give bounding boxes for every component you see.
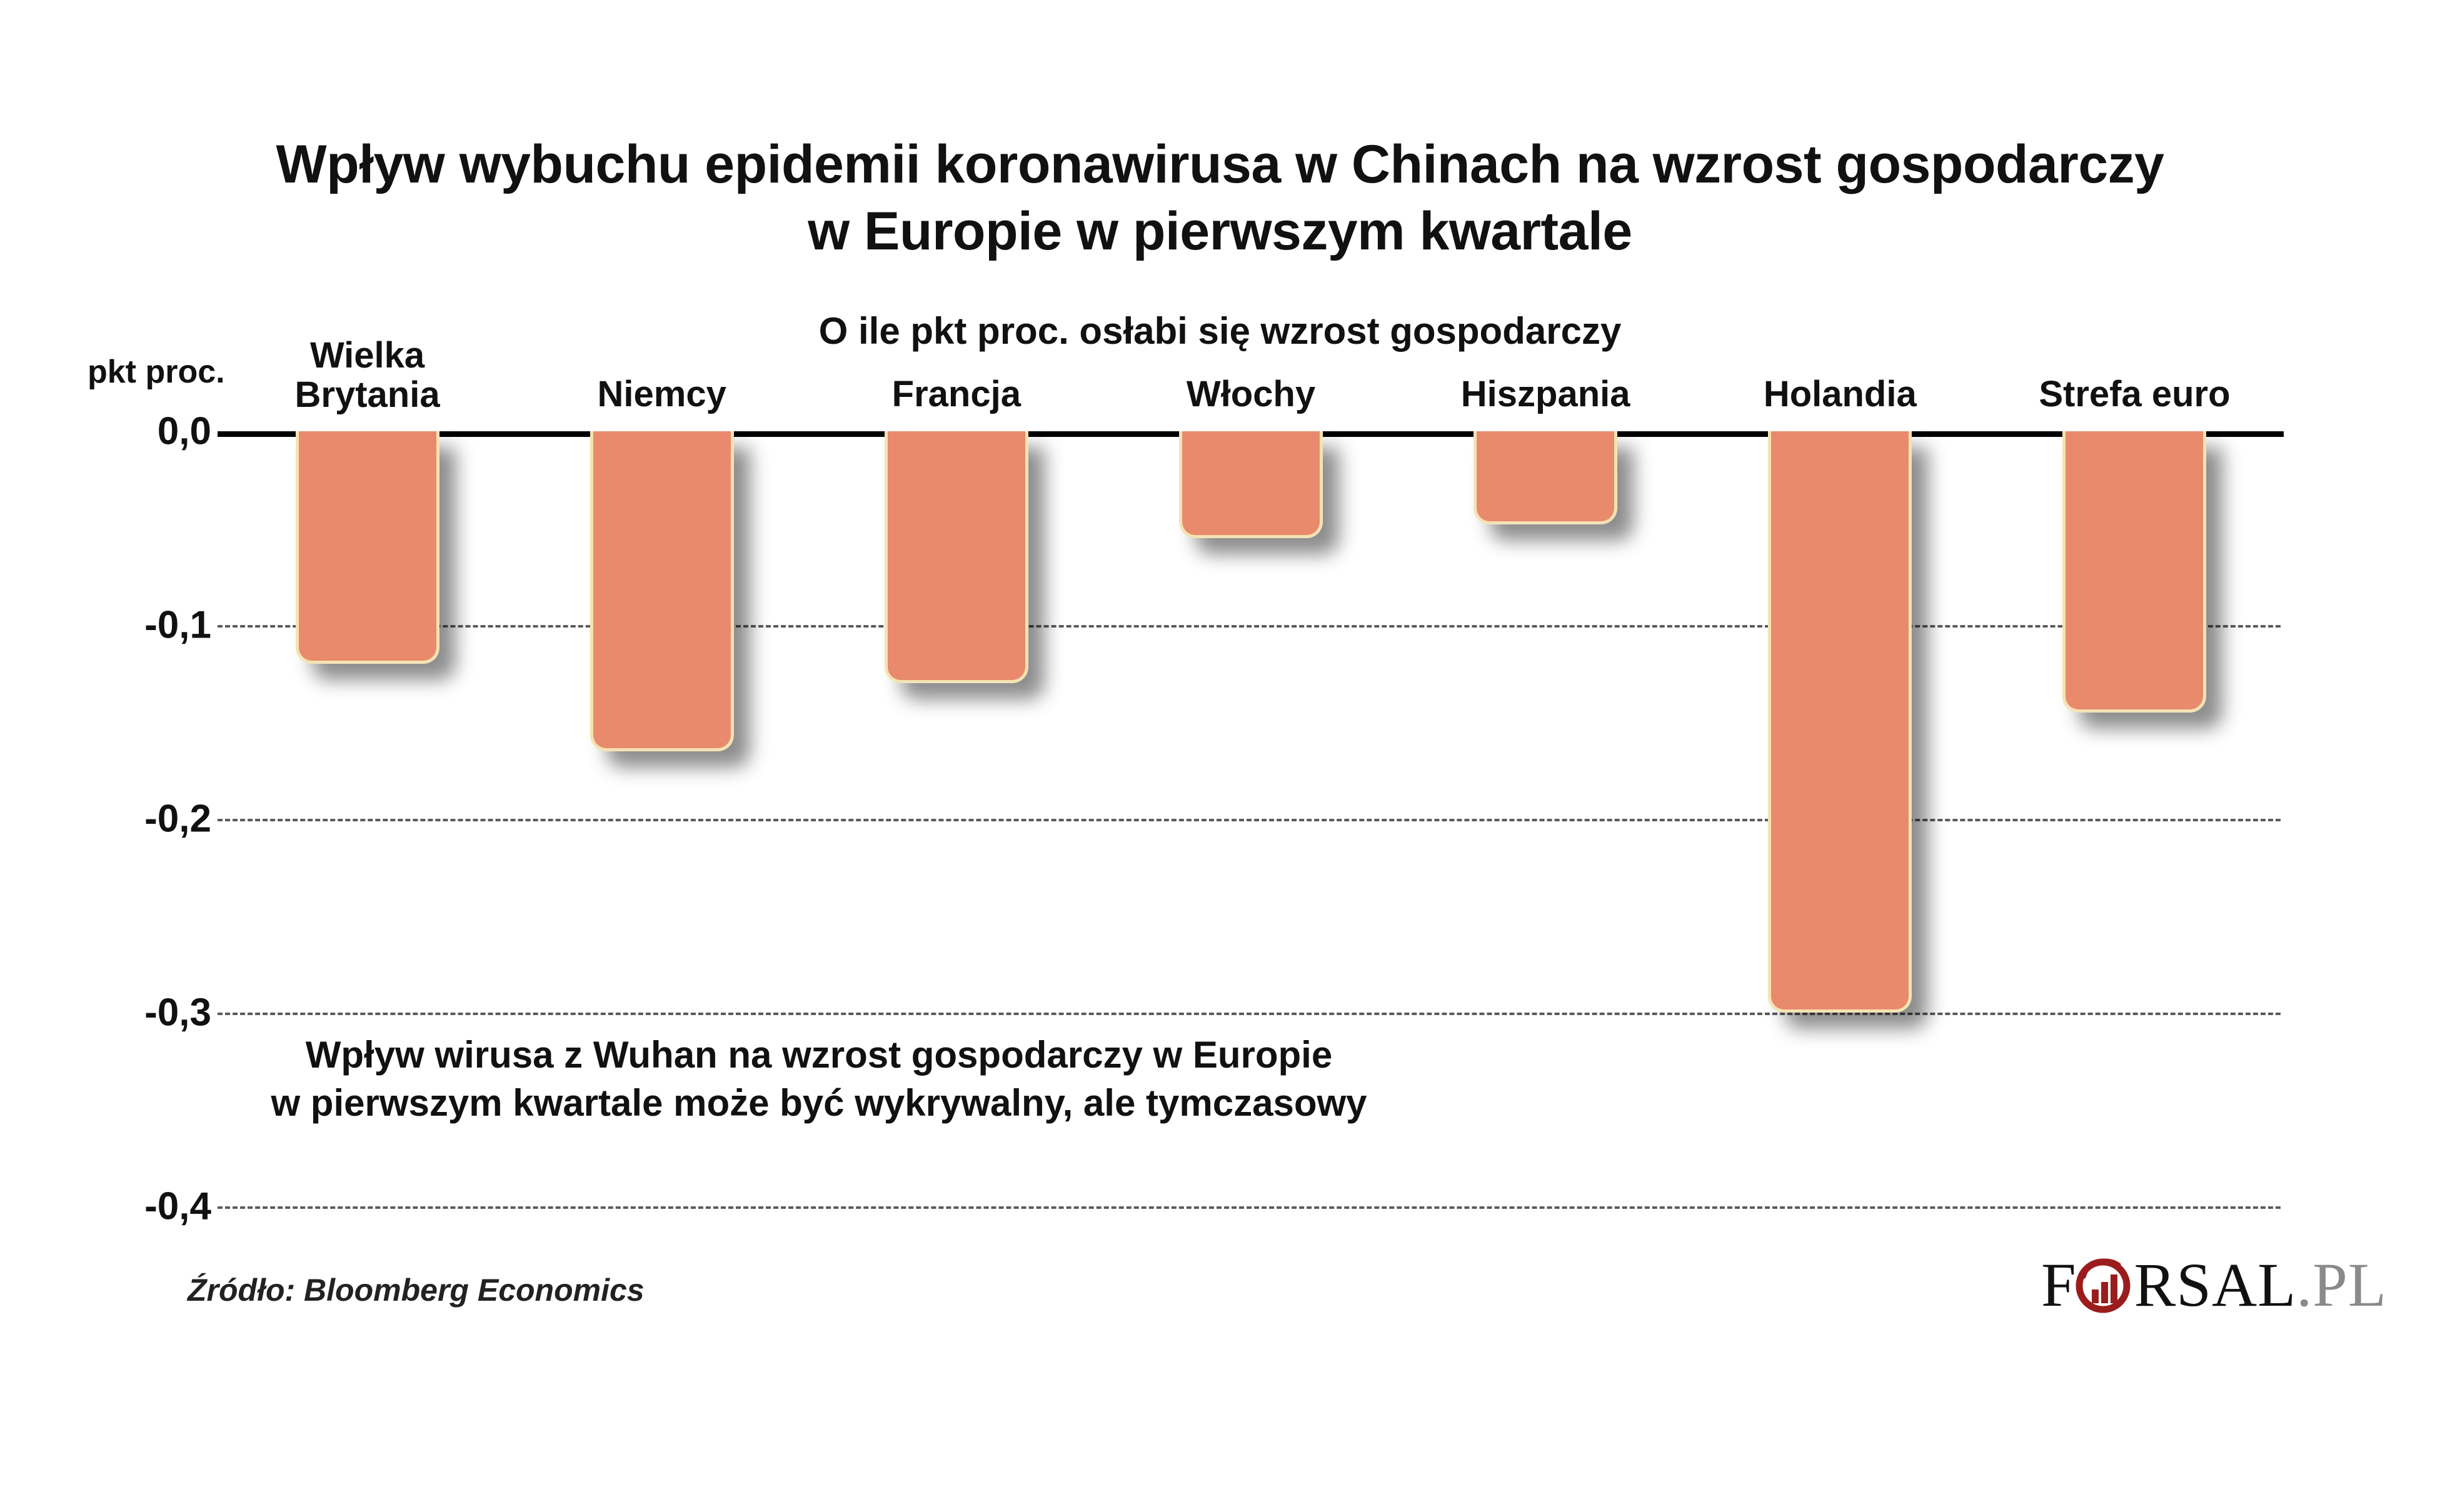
- y-tick-label-2: -0,2: [5, 797, 211, 841]
- y-tick-label-1: -0,1: [5, 603, 211, 648]
- bar-francja[interactable]: [885, 431, 1028, 683]
- y-axis-title: pkt proc.: [88, 353, 225, 391]
- category-label-holandia: Holandia: [1764, 375, 1917, 414]
- bar-holandia[interactable]: [1768, 431, 1912, 1013]
- category-label-niemcy: Niemcy: [598, 375, 726, 414]
- logo-letters-rsal: RSAL: [2134, 1249, 2297, 1321]
- bar-hiszpania[interactable]: [1474, 431, 1617, 524]
- logo-letter-f: F: [2041, 1249, 2077, 1321]
- chart-annotation: Wpływ wirusa z Wuhan na wzrost gospodarc…: [206, 1031, 1432, 1128]
- bar-niemcy[interactable]: [590, 431, 734, 751]
- category-label-strefa-euro: Strefa euro: [2039, 375, 2230, 414]
- y-tick-label-3: -0,3: [5, 991, 211, 1035]
- bar-wielka-brytania[interactable]: [296, 431, 439, 664]
- forsal-logo[interactable]: F RSAL .PL: [2041, 1250, 2387, 1319]
- logo-suffix-pl: .PL: [2296, 1249, 2387, 1321]
- bar-wlochy[interactable]: [1179, 431, 1323, 538]
- bar-strefa-euro[interactable]: [2062, 431, 2206, 713]
- gridline--0-2: [218, 819, 2281, 821]
- forsal-circle-barchart-icon: [2073, 1254, 2133, 1314]
- category-label-wlochy: Włochy: [1187, 375, 1315, 414]
- gridline--0-1: [218, 625, 2281, 628]
- category-label-hiszpania: Hiszpania: [1461, 375, 1630, 414]
- y-tick-label-0: 0,0: [5, 409, 211, 454]
- y-tick-label-4: -0,4: [5, 1184, 211, 1229]
- source-note: Źródło: Bloomberg Economics: [188, 1272, 645, 1308]
- category-label-wielka-brytania: Wielka Brytania: [295, 336, 440, 414]
- gridline--0-4: [218, 1206, 2281, 1209]
- category-label-francja: Francja: [892, 375, 1021, 414]
- gridline--0-3: [218, 1013, 2281, 1015]
